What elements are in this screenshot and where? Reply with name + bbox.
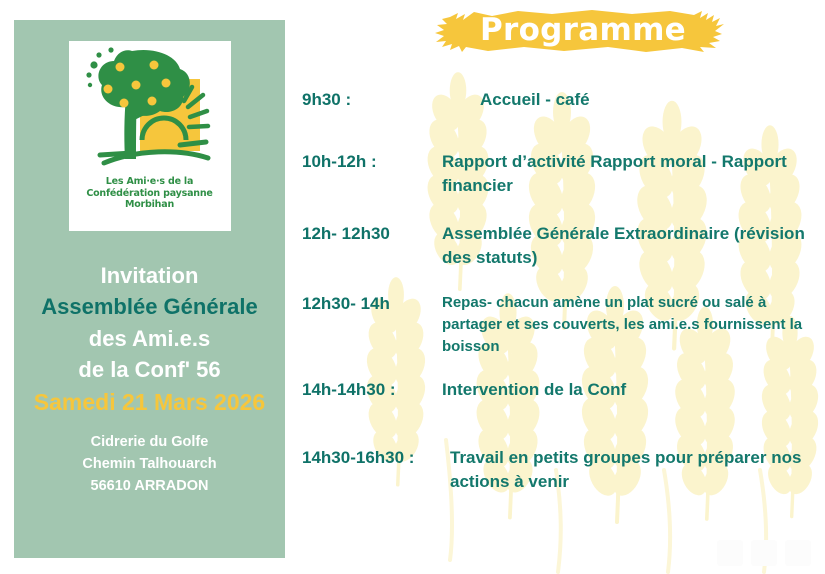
logo-card: Les Ami·e·s de la Confédération paysanne…: [69, 41, 231, 231]
schedule-description: Repas- chacun amène un plat sucré ou sal…: [442, 292, 822, 358]
schedule-row: 14h-14h30 : Intervention de la Conf: [302, 378, 822, 402]
venue-address-block: Cidrerie du Golfe Chemin Talhouarch 5661…: [82, 431, 216, 497]
twitter-icon: [751, 540, 777, 566]
schedule-time: 10h-12h :: [302, 150, 442, 174]
schedule-time: 14h-14h30 :: [302, 378, 442, 402]
schedule-description: Rapport d’activité Rapport moral - Rappo…: [442, 150, 822, 198]
tree-sun-logo-icon: [80, 45, 220, 175]
venue-name: Cidrerie du Golfe: [82, 431, 216, 453]
poster-canvas: Les Ami·e·s de la Confédération paysanne…: [0, 0, 825, 574]
invitation-side-panel: Les Ami·e·s de la Confédération paysanne…: [14, 20, 285, 558]
social-icons-row: [717, 540, 811, 566]
schedule-row: 9h30 : Accueil - café: [302, 88, 822, 112]
event-date: Samedi 21 Mars 2026: [14, 385, 285, 419]
venue-street: Chemin Talhouarch: [82, 453, 216, 475]
schedule-row: 12h- 12h30 Assemblée Générale Extraordin…: [302, 222, 822, 270]
schedule-row: 14h30-16h30 : Travail en petits groupes …: [302, 446, 822, 494]
assemblee-generale-title: Assemblée Générale: [14, 291, 285, 323]
schedule-time: 9h30 :: [302, 88, 442, 112]
schedule-description: Travail en petits groupes pour préparer …: [450, 446, 822, 494]
invitation-title: Invitation: [14, 261, 285, 291]
schedule-time: 12h30- 14h: [302, 292, 442, 316]
logo-line-3: Morbihan: [86, 199, 212, 211]
programme-title: Programme: [432, 6, 728, 54]
logo-line-2: Confédération paysanne: [86, 188, 212, 200]
schedule-description: Accueil - café: [442, 88, 822, 112]
schedule-description: Intervention de la Conf: [442, 378, 822, 402]
programme-schedule: 9h30 : Accueil - café 10h-12h : Rapport …: [302, 88, 822, 494]
venue-city: 56610 ARRADON: [82, 475, 216, 497]
de-la-conf-line: de la Conf' 56: [14, 354, 285, 385]
logo-wordmark: Les Ami·e·s de la Confédération paysanne…: [86, 176, 212, 211]
invitation-heading-block: Invitation Assemblée Générale des Ami.e.…: [14, 261, 285, 419]
email-icon: [785, 540, 811, 566]
schedule-row: 12h30- 14h Repas- chacun amène un plat s…: [302, 292, 822, 358]
schedule-description: Assemblée Générale Extraordinaire (révis…: [442, 222, 822, 270]
schedule-time: 14h30-16h30 :: [302, 446, 450, 470]
programme-banner: Programme: [432, 6, 728, 54]
des-amies-line: des Ami.e.s: [14, 323, 285, 354]
schedule-row: 10h-12h : Rapport d’activité Rapport mor…: [302, 150, 822, 198]
facebook-icon: [717, 540, 743, 566]
schedule-time: 12h- 12h30: [302, 222, 442, 246]
logo-line-1: Les Ami·e·s de la: [86, 176, 212, 188]
